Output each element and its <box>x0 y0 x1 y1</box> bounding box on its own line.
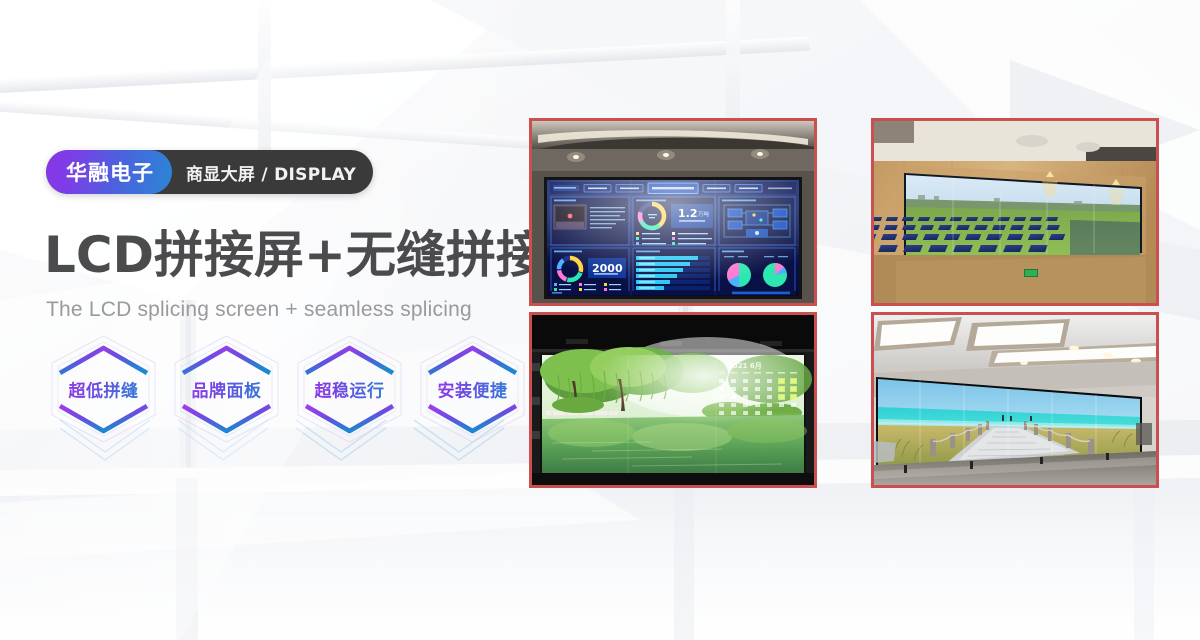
feature-label: 超稳运行 <box>290 377 409 402</box>
feature-list: 超低拼缝 品牌面板 <box>44 330 532 448</box>
feature-hex-1: 超低拼缝 <box>44 330 163 448</box>
page-subtitle: The LCD splicing screen + seamless splic… <box>46 298 472 322</box>
photo-scene: 1.2 万吨 <box>532 121 814 303</box>
photo-willow-lake-videowall: 2021 6月 <box>529 312 817 488</box>
page-title: LCD拼接屏+无缝拼接 <box>44 228 546 282</box>
brand-company-label: 华融电子 <box>46 150 172 194</box>
feature-label: 超低拼缝 <box>44 377 163 402</box>
brand-pill: 华融电子 商显大屏 / DISPLAY <box>46 150 373 194</box>
feature-hex-2: 品牌面板 <box>167 330 286 448</box>
brand-category-label: 商显大屏 / DISPLAY <box>172 150 373 194</box>
feature-label: 安装便捷 <box>413 377 532 402</box>
feature-hex-3: 超稳运行 <box>290 330 409 448</box>
photo-beach-boardwalk-videowall <box>871 312 1159 488</box>
promo-banner: 华融电子 商显大屏 / DISPLAY LCD拼接屏+无缝拼接 The LCD … <box>0 0 1200 640</box>
svg-text:2021 6月: 2021 6月 <box>728 362 762 370</box>
photo-solar-farm-videowall <box>871 118 1159 306</box>
feature-hex-4: 安装便捷 <box>413 330 532 448</box>
photo-dashboard-videowall: 1.2 万吨 <box>529 118 817 306</box>
feature-label: 品牌面板 <box>167 377 286 402</box>
photo-scene <box>874 121 1156 303</box>
photo-scene: 2021 6月 <box>532 315 814 485</box>
photo-scene <box>874 315 1156 485</box>
